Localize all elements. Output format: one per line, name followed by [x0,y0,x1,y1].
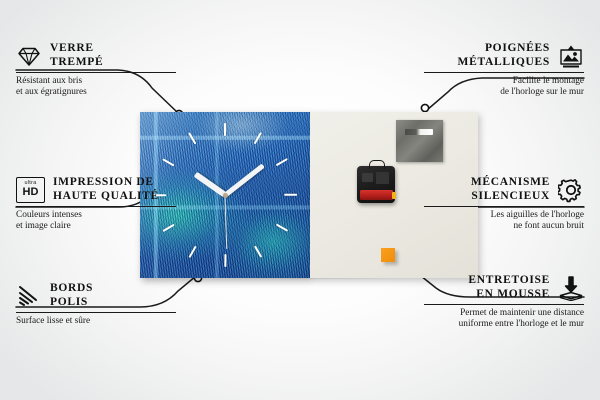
callout-divider [424,72,584,73]
mechanism-detail [362,173,373,182]
metal-hanger-plate [396,120,443,162]
diamond-icon [16,43,42,69]
clock-mechanism-box [357,166,395,203]
callout-poignees-metalliques: POIGNÉES MÉTALLIQUES Facilite le montage… [424,42,584,98]
callout-impression-haute-qualite: ultra HD IMPRESSION DE HAUTE QUALITÉ Cou… [16,176,176,232]
callout-divider [16,312,176,313]
hour-tick [188,245,197,257]
callout-description: Surface lisse et sûre [16,316,176,327]
callout-header: ultra HD IMPRESSION DE HAUTE QUALITÉ [16,176,176,203]
callout-header: BORDS POLIS [16,282,176,309]
foam-spacer-arrow-icon [558,275,584,301]
hanging-frame-icon [558,43,584,69]
clock-center-cap [223,193,228,198]
callout-title: IMPRESSION DE HAUTE QUALITÉ [53,176,159,203]
mechanism-detail [376,172,389,184]
callout-description: Facilite le montage de l'horloge sur le … [424,76,584,98]
callout-title: VERRE TREMPÉ [50,42,103,69]
clock-minute-hand [223,163,264,196]
callout-divider [16,206,176,207]
hour-tick [276,158,288,167]
callout-divider [16,72,176,73]
polished-edges-icon [16,283,42,309]
callout-divider [424,304,584,305]
mechanism-hanging-loop [369,160,385,169]
hour-tick [253,245,262,257]
callout-title: BORDS POLIS [50,282,93,309]
callout-description: Résistant aux bris et aux égratignures [16,76,176,98]
callout-header: POIGNÉES MÉTALLIQUES [424,42,584,69]
clock-hour-hand [194,172,227,197]
callout-header: VERRE TREMPÉ [16,42,176,69]
hour-tick [224,123,226,136]
hour-tick [276,223,288,232]
hour-tick [224,254,226,267]
callout-description: Permet de maintenir une distance uniform… [424,308,584,330]
callout-description: Couleurs intenses et image claire [16,210,176,232]
ultra-hd-badge-icon: ultra HD [16,177,45,203]
callout-title: POIGNÉES MÉTALLIQUES [458,42,550,69]
hour-tick [253,132,262,144]
gear-icon [558,177,584,203]
clock-second-hand [224,195,227,249]
hour-tick [284,194,297,196]
foam-spacer-square [381,248,395,262]
callout-divider [424,206,584,207]
leader-dot-poignees [421,104,428,111]
callout-entretoise-en-mousse: ENTRETOISE EN MOUSSE Permet de maintenir… [424,274,584,330]
callout-mecanisme-silencieux: MÉCANISME SILENCIEUX Les aiguilles de l'… [424,176,584,232]
ultra-hd-main-label: HD [23,187,39,198]
product-infographic: VERRE TREMPÉ Résistant aux bris et aux é… [0,0,600,400]
callout-verre-trempe: VERRE TREMPÉ Résistant aux bris et aux é… [16,42,176,98]
callout-description: Les aiguilles de l'horloge ne font aucun… [424,210,584,232]
callout-title: ENTRETOISE EN MOUSSE [468,274,550,301]
callout-header: MÉCANISME SILENCIEUX [424,176,584,203]
callout-header: ENTRETOISE EN MOUSSE [424,274,584,301]
aa-battery [360,190,393,200]
hour-tick [188,132,197,144]
callout-title: MÉCANISME SILENCIEUX [471,176,550,203]
hanger-keyhole-slot [405,129,433,135]
hour-tick [162,158,174,167]
callout-bords-polis: BORDS POLIS Surface lisse et sûre [16,282,176,327]
